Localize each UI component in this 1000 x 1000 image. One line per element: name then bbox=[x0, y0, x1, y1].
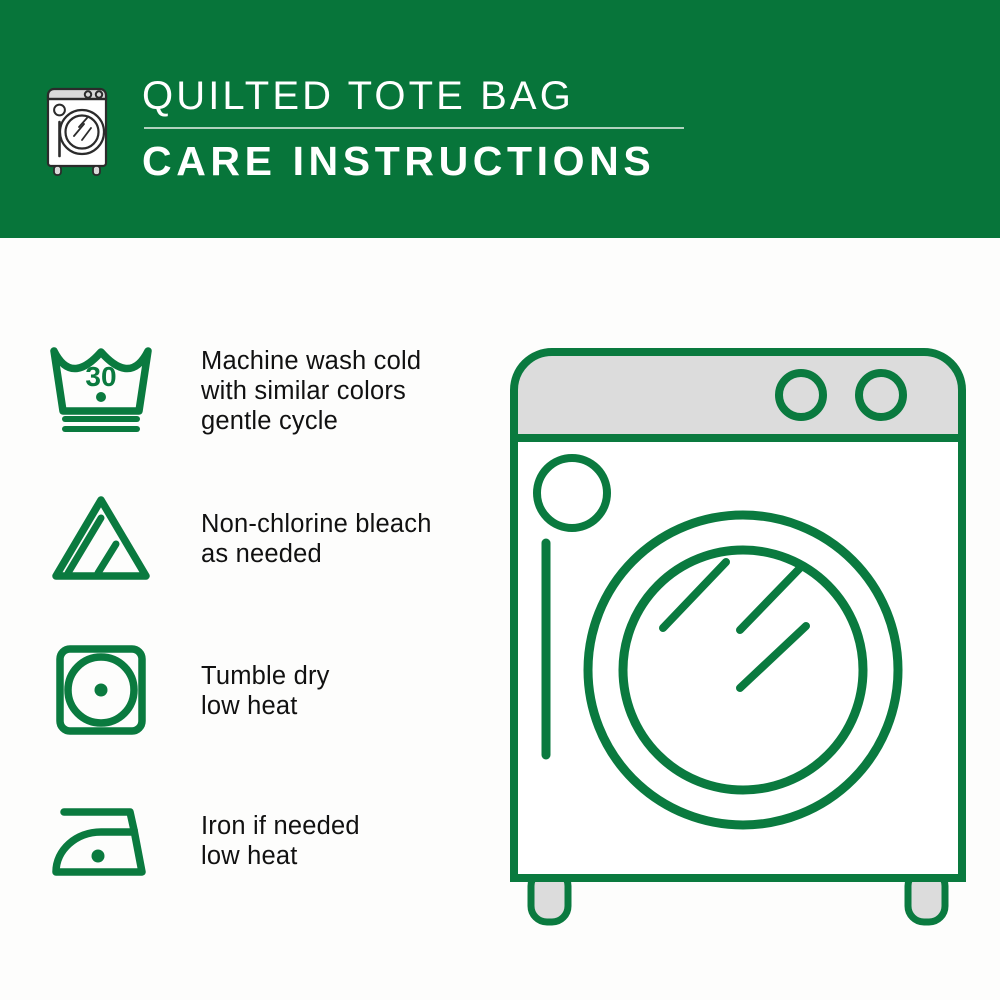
header-title-block: QUILTED TOTE BAG CARE INSTRUCTIONS bbox=[142, 70, 842, 187]
care-instructions-infographic: QUILTED TOTE BAG CARE INSTRUCTIONS 30 bbox=[0, 0, 1000, 1000]
iron-low-icon bbox=[46, 785, 161, 895]
wash-tub-30-icon: 30 bbox=[46, 330, 161, 440]
care-row-iron: Iron if needed low heat bbox=[0, 785, 470, 915]
svg-text:30: 30 bbox=[85, 361, 116, 392]
care-row-wash: 30 Machine wash cold with similar colors… bbox=[0, 330, 470, 460]
care-row-tumble-dry: Tumble dry low heat bbox=[0, 635, 470, 765]
title-divider bbox=[144, 127, 684, 129]
care-label-iron: Iron if needed low heat bbox=[201, 785, 360, 871]
header-banner: QUILTED TOTE BAG CARE INSTRUCTIONS bbox=[0, 0, 1000, 238]
tumble-dry-low-icon bbox=[46, 635, 161, 745]
non-chlorine-bleach-triangle-icon bbox=[46, 483, 161, 593]
care-label-bleach: Non-chlorine bleach as needed bbox=[201, 483, 432, 569]
care-label-wash: Machine wash cold with similar colors ge… bbox=[201, 330, 421, 436]
product-title: QUILTED TOTE BAG bbox=[142, 70, 842, 122]
care-label-tumble-dry: Tumble dry low heat bbox=[201, 635, 330, 721]
front-load-washing-machine-illustration bbox=[488, 330, 988, 940]
page-title: CARE INSTRUCTIONS bbox=[142, 135, 842, 187]
washing-machine-icon bbox=[44, 72, 110, 177]
care-row-bleach: Non-chlorine bleach as needed bbox=[0, 483, 470, 613]
